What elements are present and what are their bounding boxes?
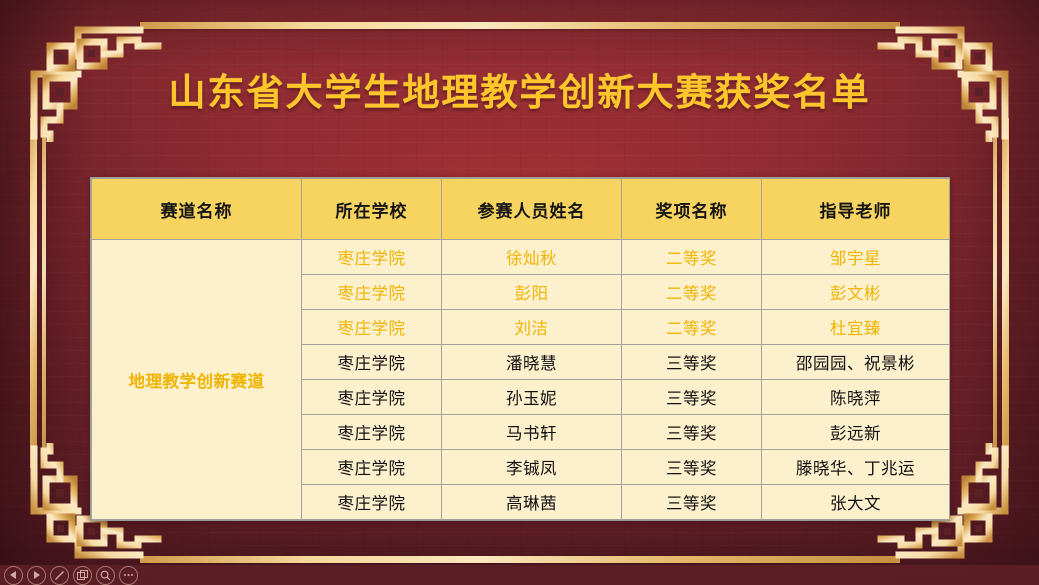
slide-title: 山东省大学生地理教学创新大赛获奖名单 bbox=[0, 62, 1039, 116]
next-slide-button[interactable] bbox=[27, 566, 46, 585]
cell-participant: 李铖凤 bbox=[442, 450, 622, 485]
cell-award: 三等奖 bbox=[622, 485, 762, 520]
frame-rail-left-inner bbox=[42, 118, 46, 468]
cell-participant: 刘洁 bbox=[442, 310, 622, 345]
cell-school: 枣庄学院 bbox=[302, 485, 442, 520]
cell-school: 枣庄学院 bbox=[302, 345, 442, 380]
cell-award: 三等奖 bbox=[622, 450, 762, 485]
frame-rail-bottom bbox=[140, 556, 900, 563]
cell-participant: 彭阳 bbox=[442, 275, 622, 310]
presentation-toolbar[interactable] bbox=[0, 565, 1039, 585]
more-options-button[interactable] bbox=[119, 566, 138, 585]
previous-slide-button[interactable] bbox=[4, 566, 23, 585]
cell-school: 枣庄学院 bbox=[302, 275, 442, 310]
pen-tool-button[interactable] bbox=[50, 566, 69, 585]
cell-school: 枣庄学院 bbox=[302, 415, 442, 450]
cell-track-name: 地理教学创新赛道 bbox=[92, 240, 302, 520]
cell-advisor: 杜宜臻 bbox=[762, 310, 950, 345]
cell-award: 二等奖 bbox=[622, 310, 762, 345]
presentation-slide: 山东省大学生地理教学创新大赛获奖名单 赛道名称 所在学校 参赛人员姓名 奖项名称… bbox=[0, 0, 1039, 585]
frame-rail-right bbox=[1002, 118, 1009, 468]
cell-participant: 潘晓慧 bbox=[442, 345, 622, 380]
table-header-row: 赛道名称 所在学校 参赛人员姓名 奖项名称 指导老师 bbox=[92, 179, 950, 240]
cell-award: 三等奖 bbox=[622, 380, 762, 415]
cell-school: 枣庄学院 bbox=[302, 240, 442, 275]
cell-school: 枣庄学院 bbox=[302, 310, 442, 345]
cell-advisor: 彭远新 bbox=[762, 415, 950, 450]
award-table-head: 赛道名称 所在学校 参赛人员姓名 奖项名称 指导老师 bbox=[92, 179, 950, 240]
frame-rail-right-inner bbox=[993, 118, 997, 468]
slide-overview-button[interactable] bbox=[73, 566, 92, 585]
column-header-advisor: 指导老师 bbox=[762, 179, 950, 240]
cell-award: 三等奖 bbox=[622, 415, 762, 450]
cell-school: 枣庄学院 bbox=[302, 380, 442, 415]
zoom-button[interactable] bbox=[96, 566, 115, 585]
column-header-participant: 参赛人员姓名 bbox=[442, 179, 622, 240]
cell-advisor: 邵园园、祝景彬 bbox=[762, 345, 950, 380]
cell-advisor: 张大文 bbox=[762, 485, 950, 520]
cell-advisor: 陈晓萍 bbox=[762, 380, 950, 415]
cell-advisor: 邹宇星 bbox=[762, 240, 950, 275]
cell-award: 二等奖 bbox=[622, 275, 762, 310]
table-row: 地理教学创新赛道枣庄学院徐灿秋二等奖邹宇星 bbox=[92, 240, 950, 275]
column-header-award: 奖项名称 bbox=[622, 179, 762, 240]
frame-rail-top bbox=[140, 22, 900, 29]
award-table-container: 赛道名称 所在学校 参赛人员姓名 奖项名称 指导老师 地理教学创新赛道枣庄学院徐… bbox=[90, 177, 950, 521]
column-header-track: 赛道名称 bbox=[92, 179, 302, 240]
cell-award: 三等奖 bbox=[622, 345, 762, 380]
cell-participant: 高琳茜 bbox=[442, 485, 622, 520]
cell-advisor: 彭文彬 bbox=[762, 275, 950, 310]
cell-participant: 马书轩 bbox=[442, 415, 622, 450]
cell-award: 二等奖 bbox=[622, 240, 762, 275]
award-table-body: 地理教学创新赛道枣庄学院徐灿秋二等奖邹宇星枣庄学院彭阳二等奖彭文彬枣庄学院刘洁二… bbox=[92, 240, 950, 520]
cell-advisor: 滕晓华、丁兆运 bbox=[762, 450, 950, 485]
column-header-school: 所在学校 bbox=[302, 179, 442, 240]
frame-rail-left bbox=[30, 118, 37, 468]
cell-participant: 徐灿秋 bbox=[442, 240, 622, 275]
cell-school: 枣庄学院 bbox=[302, 450, 442, 485]
cell-participant: 孙玉妮 bbox=[442, 380, 622, 415]
award-table: 赛道名称 所在学校 参赛人员姓名 奖项名称 指导老师 地理教学创新赛道枣庄学院徐… bbox=[91, 178, 950, 520]
